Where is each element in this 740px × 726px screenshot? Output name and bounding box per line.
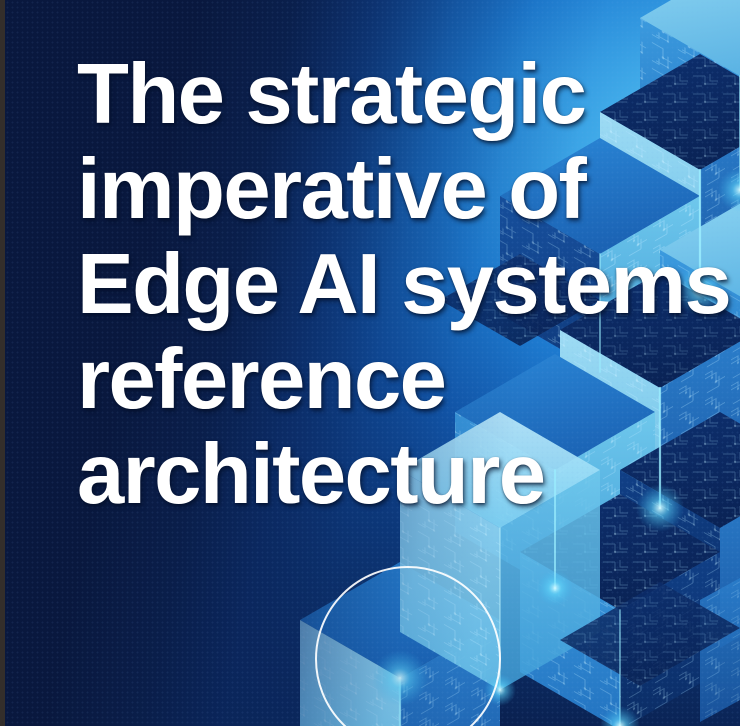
- left-edge-border: [0, 0, 5, 726]
- title-line-3: Edge AI systems: [77, 237, 717, 332]
- title-line-1: The strategic: [77, 47, 717, 142]
- cover-title: The strategic imperative of Edge AI syst…: [77, 47, 717, 522]
- title-line-5: architecture: [77, 427, 717, 522]
- title-line-4: reference: [77, 332, 717, 427]
- title-line-2: imperative of: [77, 142, 717, 237]
- report-cover: The strategic imperative of Edge AI syst…: [0, 0, 740, 726]
